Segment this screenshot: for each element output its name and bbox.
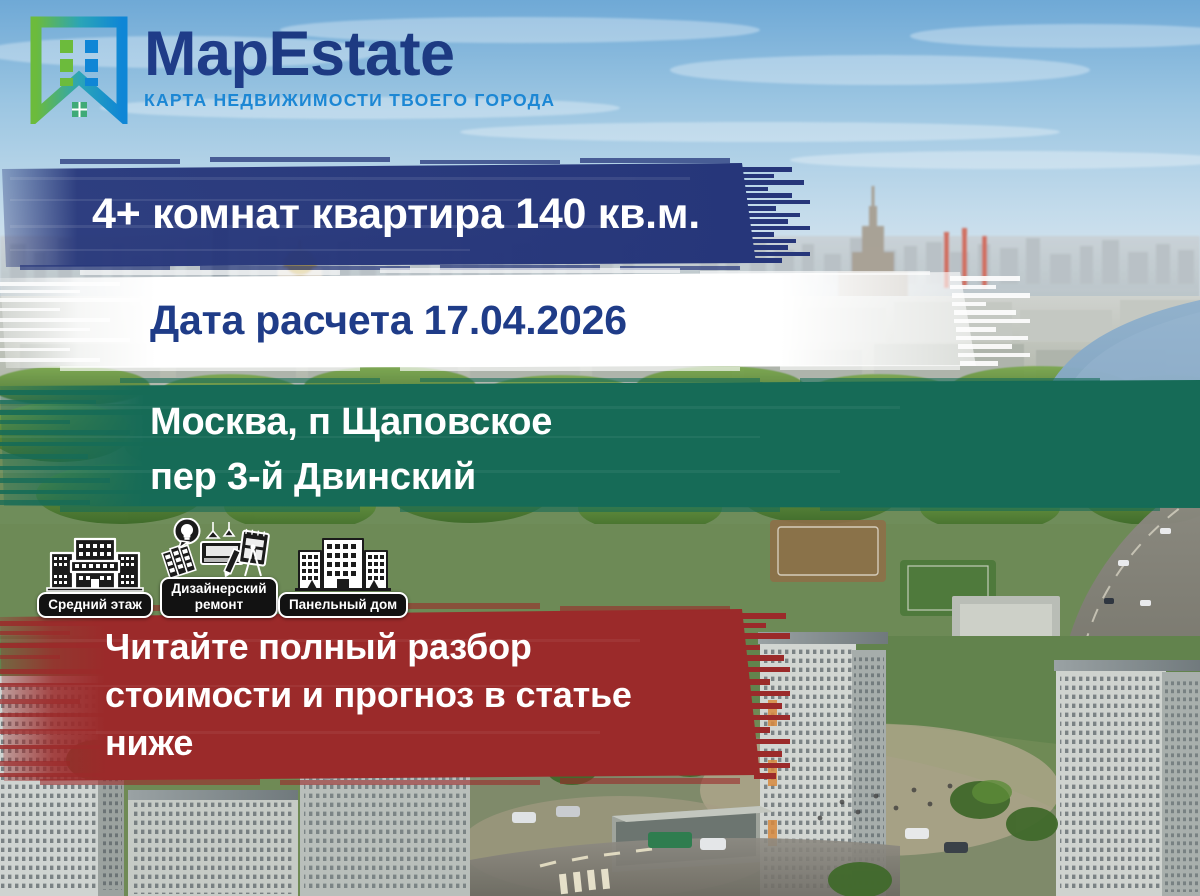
address-text: Москва, п Щаповское пер 3-й Двинский bbox=[0, 378, 1200, 505]
cta-line-3: ниже bbox=[105, 719, 790, 767]
brand-word-map: Map bbox=[144, 19, 269, 89]
brand-tagline: КАРТА НЕДВИЖИМОСТИ ТВОЕГО ГОРОДА bbox=[144, 90, 555, 111]
badge-mid-floor[interactable]: Средний этаж bbox=[40, 533, 150, 618]
headline-text: 4+ комнат квартира 140 кв.м. bbox=[0, 155, 810, 273]
cta-banner: Читайте полный разбор стоимости и прогно… bbox=[0, 603, 790, 786]
badge-panel-house[interactable]: Панельный дом bbox=[288, 533, 398, 618]
date-banner: Дата расчета 17.04.2026 bbox=[0, 268, 1030, 373]
panel-house-icon bbox=[291, 533, 395, 595]
mid-floor-building-icon bbox=[45, 533, 145, 595]
badge-label-line-1: Дизайнерский bbox=[171, 581, 266, 597]
brand-wordmark: MapEstate bbox=[144, 24, 555, 84]
address-line-1: Москва, п Щаповское bbox=[150, 395, 1200, 450]
brand-text: MapEstate КАРТА НЕДВИЖИМОСТИ ТВОЕГО ГОРО… bbox=[144, 16, 555, 111]
brand-logo[interactable]: MapEstate КАРТА НЕДВИЖИМОСТИ ТВОЕГО ГОРО… bbox=[28, 16, 555, 124]
feature-badges: Средний этаж bbox=[40, 518, 398, 618]
building-bookmark-icon bbox=[28, 16, 130, 124]
address-line-2: пер 3-й Двинский bbox=[150, 450, 1200, 505]
cta-line-2: стоимости и прогноз в статье bbox=[105, 671, 790, 719]
address-banner: Москва, п Щаповское пер 3-й Двинский bbox=[0, 378, 1200, 513]
badge-label-mid-floor: Средний этаж bbox=[37, 592, 153, 618]
badge-label-line-2: ремонт bbox=[171, 597, 266, 613]
cta-line-1: Читайте полный разбор bbox=[105, 623, 790, 671]
badge-label-designer-renovation: Дизайнерский ремонт bbox=[160, 577, 277, 618]
brand-word-estate: Estate bbox=[269, 19, 455, 89]
headline-banner: 4+ комнат квартира 140 кв.м. bbox=[0, 155, 810, 273]
badge-label-panel-house: Панельный дом bbox=[278, 592, 408, 618]
badge-designer-renovation[interactable]: Дизайнерский ремонт bbox=[156, 518, 282, 618]
cta-text: Читайте полный разбор стоимости и прогно… bbox=[0, 603, 790, 767]
date-text: Дата расчета 17.04.2026 bbox=[0, 268, 1030, 373]
designer-renovation-icon bbox=[161, 518, 277, 580]
promo-poster: MapEstate КАРТА НЕДВИЖИМОСТИ ТВОЕГО ГОРО… bbox=[0, 0, 1200, 896]
